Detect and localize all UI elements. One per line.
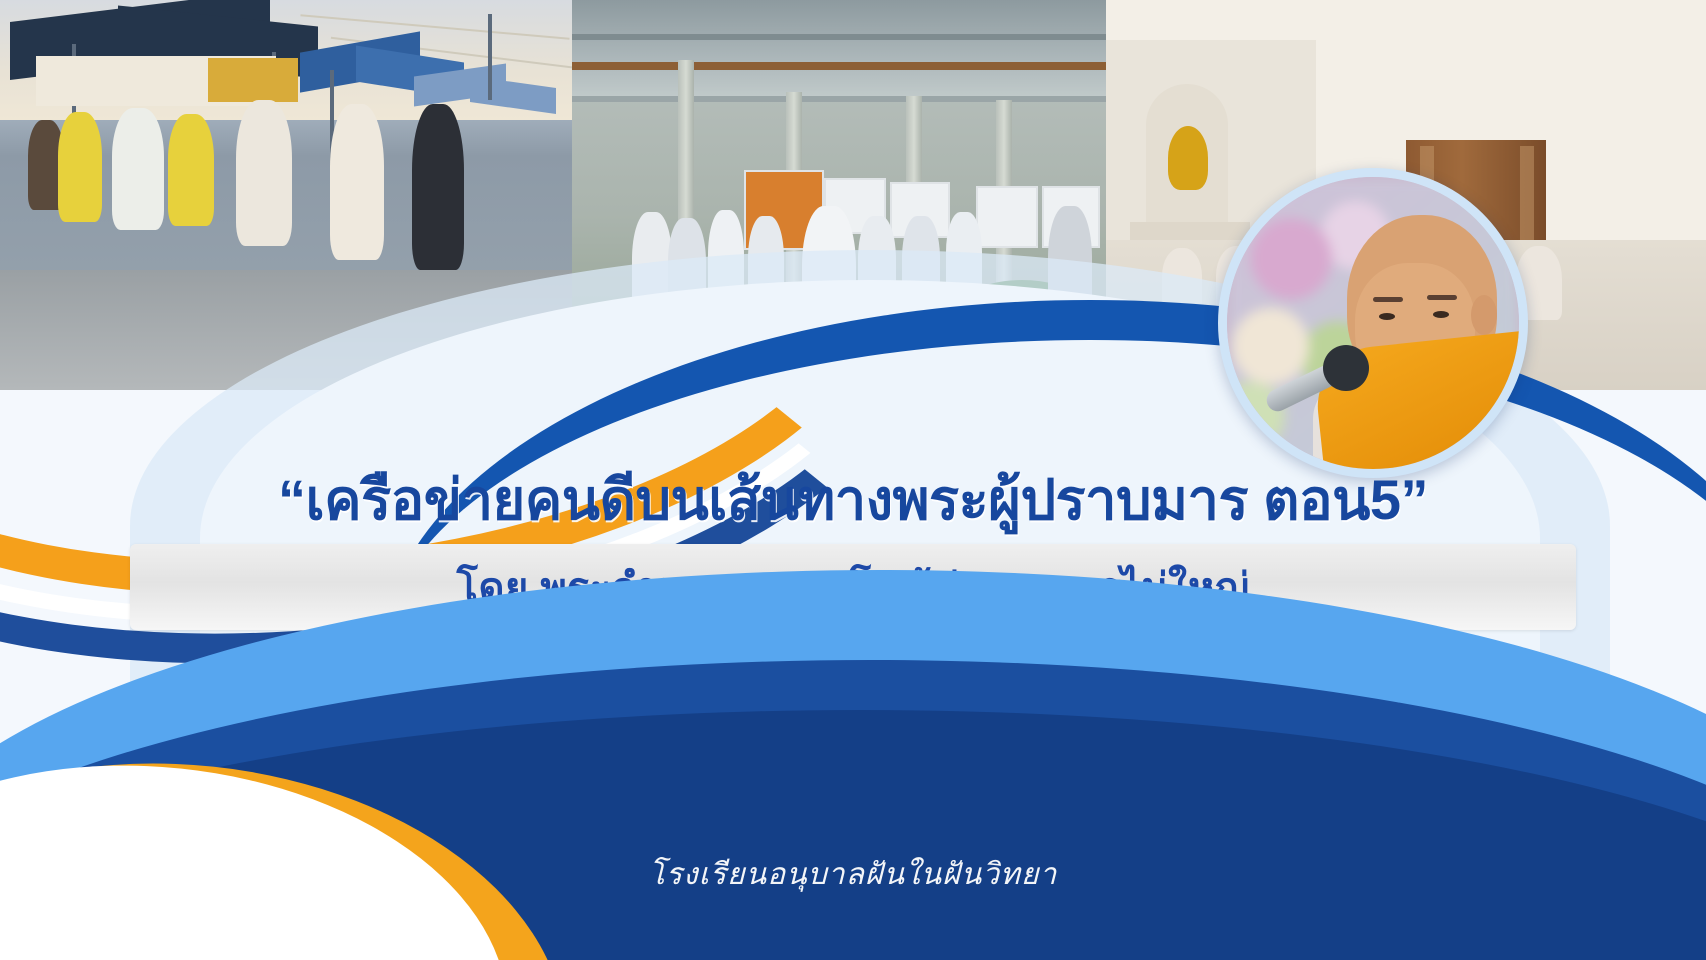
monk-eye	[1379, 313, 1395, 320]
roof-beam	[572, 62, 1106, 70]
roof-beam	[572, 34, 1106, 40]
pavilion-roof	[572, 0, 1106, 100]
golden-buddha-statue	[1168, 126, 1208, 190]
market-signboard	[208, 58, 298, 102]
monk-eye	[1433, 311, 1449, 318]
monk-brow	[1427, 295, 1457, 300]
monk-speaker-portrait	[1218, 168, 1528, 478]
market-person	[412, 104, 464, 270]
monk-brow	[1373, 297, 1403, 302]
handwritten-signature: โรงเรียนอนุบาลฝันในฝันวิทยา	[0, 851, 1706, 898]
market-person	[112, 108, 164, 230]
market-person	[330, 104, 384, 260]
roof-beam	[572, 96, 1106, 102]
page-title: “เครือข่ายคนดีบนเส้นทางพระผู้ปราบมาร ตอน…	[0, 470, 1706, 530]
market-person	[58, 112, 102, 222]
monk-ear	[1471, 295, 1497, 335]
market-person	[168, 114, 214, 226]
exhibit-board	[976, 186, 1038, 248]
promotional-banner: “เครือข่ายคนดีบนเส้นทางพระผู้ปราบมาร ตอน…	[0, 0, 1706, 960]
street-lamp	[488, 14, 492, 100]
market-person	[236, 100, 292, 246]
microphone-icon	[1323, 345, 1369, 391]
